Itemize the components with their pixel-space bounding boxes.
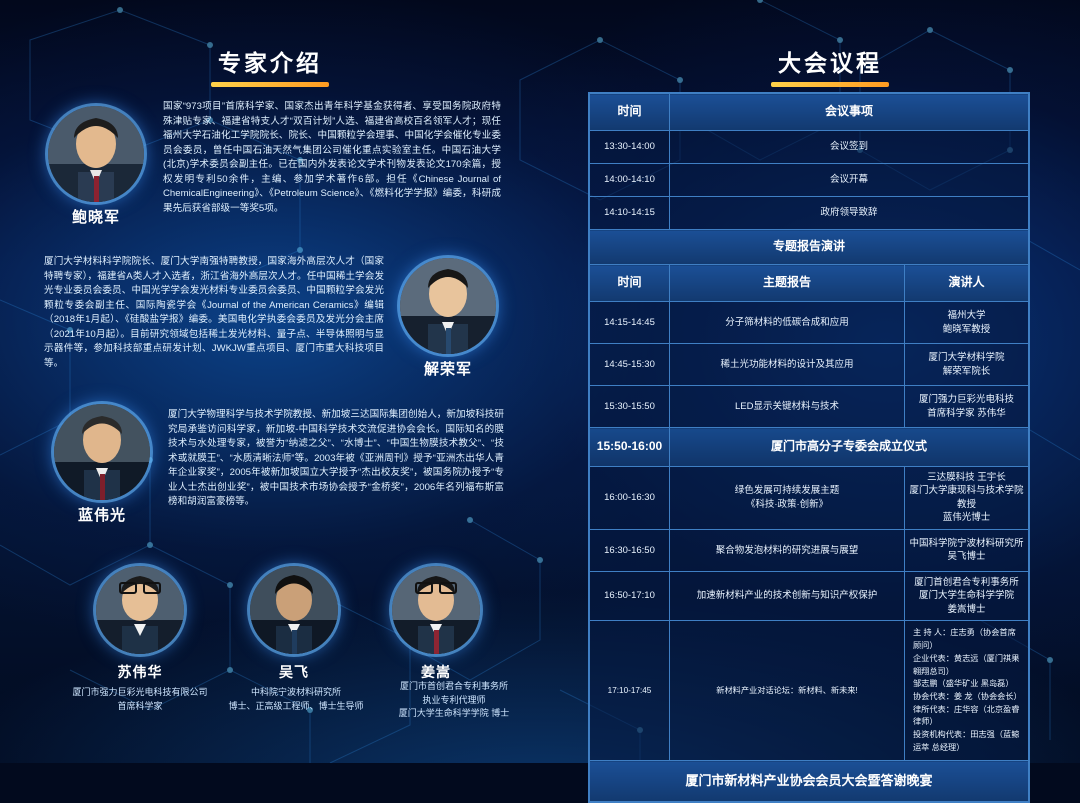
portrait-illustration [250,566,338,654]
avatar-expert-5 [250,566,338,654]
cell-forum-participants: 主 持 人：庄志勇（协会首席顾问） 企业代表：黄志远（厦门祺果 翱翔总司） 邹志… [904,621,1028,761]
header-time: 时间 [590,94,670,131]
agenda-forum-row: 17:10-17:45 新材料产业对话论坛：新材料、新未来! 主 持 人：庄志勇… [590,621,1029,761]
expert-2-bio: 厦门大学材料科学院院长、厦门大学南强特聘教授，国家海外高层次人才（国家特聘专家）… [44,255,384,372]
expert-2-name: 解荣军 [392,358,504,379]
cell-time: 15:50-16:00 [590,428,670,467]
expert-4-name: 苏伟华 [88,662,192,682]
cell-item: 政府领导致辞 [670,197,1029,230]
cell-speaker: 三达膜科技 王宇长 厦门大学康现科与技术学院教授 蓝伟光博士 [904,467,1028,530]
cell-topic: 稀土光功能材料的设计及其应用 [670,344,905,386]
expert-6-name: 姜嵩 [384,662,488,682]
expert-1-name: 鲍晓军 [40,206,152,227]
portrait-illustration [54,404,150,500]
cell-speaker: 厦门大学材料学院 解荣军院长 [904,344,1028,386]
page-title-experts: 专家介绍 [120,44,420,78]
cell-time: 14:15-14:45 [590,302,670,344]
portrait-illustration [48,106,144,202]
cell-topic: 绿色发展可持续发展主题 《科技·政策·创新》 [670,467,905,530]
agenda-title-text: 大会议程 [778,50,882,76]
agenda-header-row-2: 时间 主题报告 演讲人 [590,265,1029,302]
avatar-expert-4 [96,566,184,654]
cell-time: 16:30-16:50 [590,529,670,571]
cell-time: 15:30-15:50 [590,386,670,428]
cell-speaker: 厦门强力巨彩光电科技 首席科学家 苏伟华 [904,386,1028,428]
title-underline [771,82,889,87]
header-item: 会议事项 [670,94,1029,131]
experts-title-text: 专家介绍 [218,50,322,76]
table-row: 15:30-15:50 LED显示关键材料与技术 厦门强力巨彩光电科技 首席科学… [590,386,1029,428]
forum-line: 投资机构代表：田志强（蓝鲸运萃 总经理） [913,729,1020,754]
cell-speaker: 福州大学 鲍晓军教授 [904,302,1028,344]
portrait-illustration [400,258,496,354]
table-row: 13:30-14:00 会议签到 [590,131,1029,164]
table-row: 14:15-14:45 分子筛材料的低碳合成和应用 福州大学 鲍晓军教授 [590,302,1029,344]
table-row: 14:45-15:30 稀土光功能材料的设计及其应用 厦门大学材料学院 解荣军院… [590,344,1029,386]
forum-line: 律所代表：庄华容（北京盈睿律师） [913,704,1020,729]
cell-topic: 新材料产业对话论坛：新材料、新未来! [670,621,905,761]
agenda-table: 时间 会议事项 13:30-14:00 会议签到 14:00-14:10 会议开… [588,92,1030,803]
cell-time: 16:50-17:10 [590,571,670,620]
avatar-expert-6 [392,566,480,654]
table-row: 16:50-17:10 加速新材料产业的技术创新与知识产权保护 厦门首创君合专利… [590,571,1029,620]
cell-time: 14:00-14:10 [590,164,670,197]
header-speaker: 演讲人 [904,265,1028,302]
cell-item: 会议签到 [670,131,1029,164]
table-row: 16:30-16:50 聚合物发泡材料的研究进展与展望 中国科学院宁波材料研究所… [590,529,1029,571]
table-row: 14:10-14:15 政府领导致辞 [590,197,1029,230]
cell-time: 16:00-16:30 [590,467,670,530]
avatar-expert-2 [400,258,496,354]
footer-label: 厦门市新材料产业协会会员大会暨答谢晚宴 [590,761,1029,802]
cell-topic: 加速新材料产业的技术创新与知识产权保护 [670,571,905,620]
avatar-expert-1 [48,106,144,202]
cell-item: 厦门市高分子专委会成立仪式 [670,428,1029,467]
portrait-illustration [392,566,480,654]
forum-line: 协会代表：姜 龙（协会会长） [913,691,1020,704]
forum-line: 企业代表：黄志远（厦门祺果 翱翔总司） [913,653,1020,678]
expert-3-name: 蓝伟光 [46,504,158,525]
expert-5-name: 吴飞 [242,662,346,682]
avatar-expert-3 [54,404,150,500]
expert-6-role: 厦门市首创君合专利事务所 执业专利代理师 厦门大学生命科学学院 博士 [348,680,560,721]
forum-line: 邹志鹏（盛华矿业 黑岛磊） [913,678,1020,691]
cell-time: 13:30-14:00 [590,131,670,164]
cell-topic: LED显示关键材料与技术 [670,386,905,428]
agenda-ceremony-row: 15:50-16:00 厦门市高分子专委会成立仪式 [590,428,1029,467]
cell-topic: 聚合物发泡材料的研究进展与展望 [670,529,905,571]
title-underline [211,82,329,87]
cell-item: 会议开幕 [670,164,1029,197]
forum-line: 主 持 人：庄志勇（协会首席顾问） [913,627,1020,652]
expert-1-bio: 国家“973项目”首席科学家、国家杰出青年科学基金获得者、享受国务院政府特殊津贴… [163,100,501,217]
cell-time: 14:45-15:30 [590,344,670,386]
agenda-footer-row: 厦门市新材料产业协会会员大会暨答谢晚宴 [590,761,1029,802]
cell-speaker: 厦门首创君合专利事务所 厦门大学生命科学学院 姜嵩博士 [904,571,1028,620]
cell-time: 17:10-17:45 [590,621,670,761]
cell-time: 14:10-14:15 [590,197,670,230]
band-label: 专题报告演讲 [590,230,1029,265]
cell-topic: 分子筛材料的低碳合成和应用 [670,302,905,344]
agenda-header-row: 时间 会议事项 [590,94,1029,131]
agenda-band-keynote: 专题报告演讲 [590,230,1029,265]
expert-3-bio: 厦门大学物理科学与技术学院教授、新加坡三达国际集团创始人，新加坡科技研究局承鉴访… [168,408,504,510]
portrait-illustration [96,566,184,654]
table-row: 14:00-14:10 会议开幕 [590,164,1029,197]
cell-speaker: 中国科学院宁波材料研究所 吴飞博士 [904,529,1028,571]
header-time: 时间 [590,265,670,302]
page-title-agenda: 大会议程 [700,44,960,78]
table-row: 16:00-16:30 绿色发展可持续发展主题 《科技·政策·创新》 三达膜科技… [590,467,1029,530]
header-topic: 主题报告 [670,265,905,302]
